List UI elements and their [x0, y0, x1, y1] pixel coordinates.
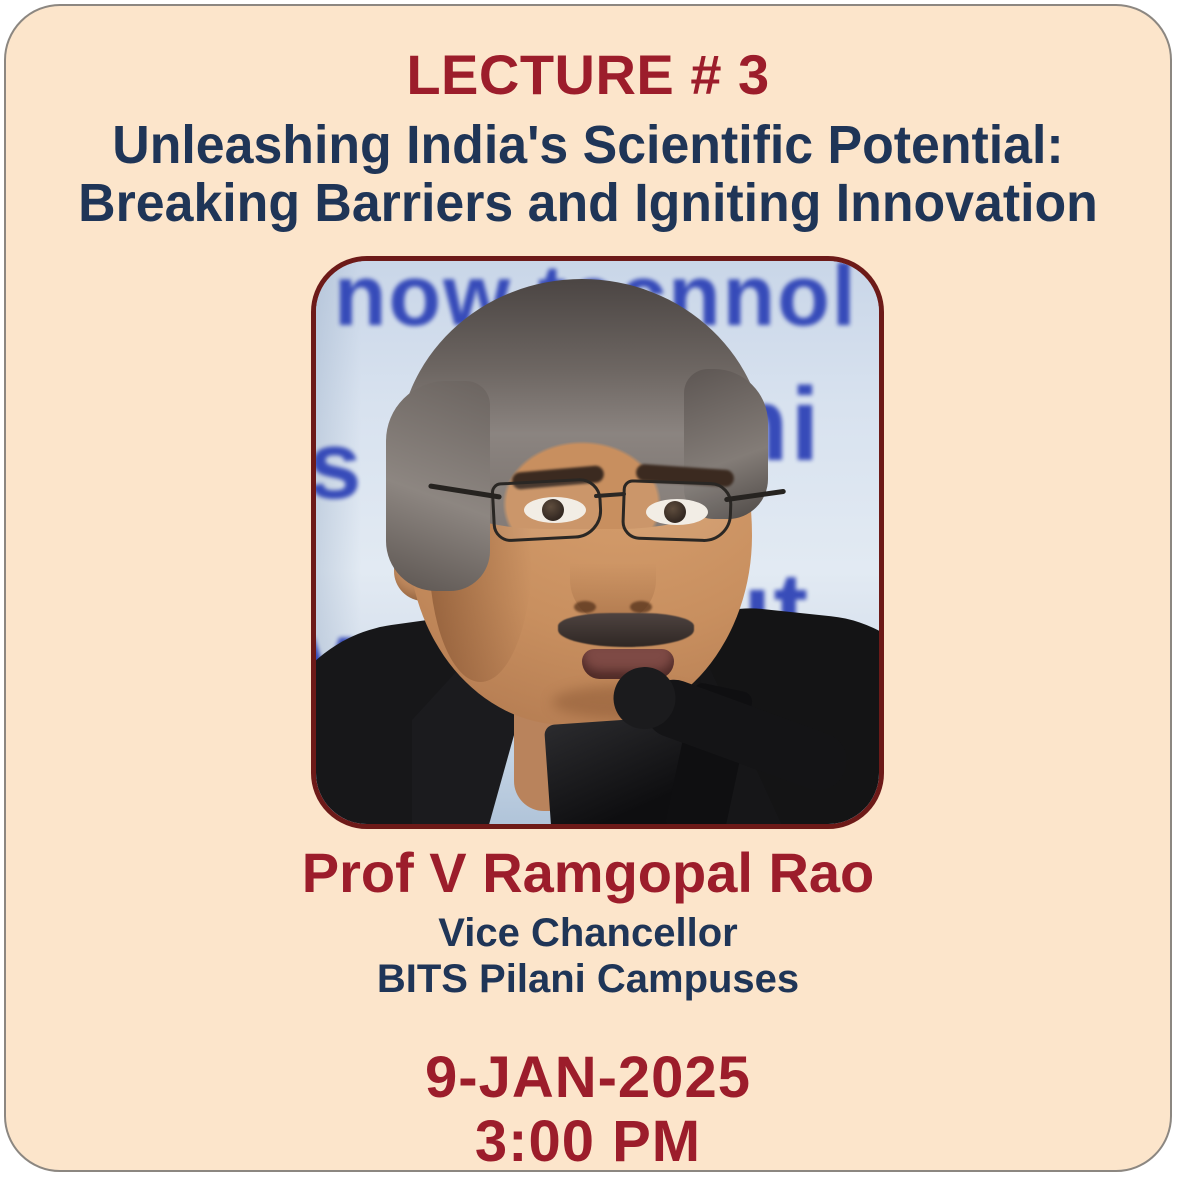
lecture-announcement-poster: LECTURE # 3 Unleashing India's Scientifi… [4, 4, 1172, 1172]
nostril-right [630, 601, 652, 613]
eyeglass-temple-right [724, 489, 786, 503]
speaker-details: Prof V Ramgopal Rao Vice Chancellor BITS… [6, 844, 1170, 1002]
lecture-title-line-2: Breaking Barriers and Igniting Innovatio… [70, 174, 1107, 232]
lecture-title-line-1: Unleashing India's Scientific Potential: [70, 116, 1107, 174]
speaker-role: Vice Chancellor [6, 910, 1170, 956]
portrait-figure [316, 261, 879, 824]
speaker-photo: now tecnnol s 21 vna mi ut [311, 256, 884, 829]
eyeglass-bridge [594, 492, 626, 498]
speaker-name: Prof V Ramgopal Rao [6, 844, 1170, 902]
event-time: 3:00 PM [6, 1110, 1170, 1172]
poster-header: LECTURE # 3 Unleashing India's Scientifi… [6, 6, 1170, 232]
lecture-number-heading: LECTURE # 3 [6, 6, 1170, 106]
speaker-photo-inner: now tecnnol s 21 vna mi ut [316, 261, 879, 824]
speaker-organization: BITS Pilani Campuses [6, 956, 1170, 1002]
event-datetime: 9-JAN-2025 3:00 PM [6, 1046, 1170, 1172]
nostril-left [574, 601, 596, 613]
moustache [558, 613, 694, 647]
event-date: 9-JAN-2025 [6, 1046, 1170, 1110]
